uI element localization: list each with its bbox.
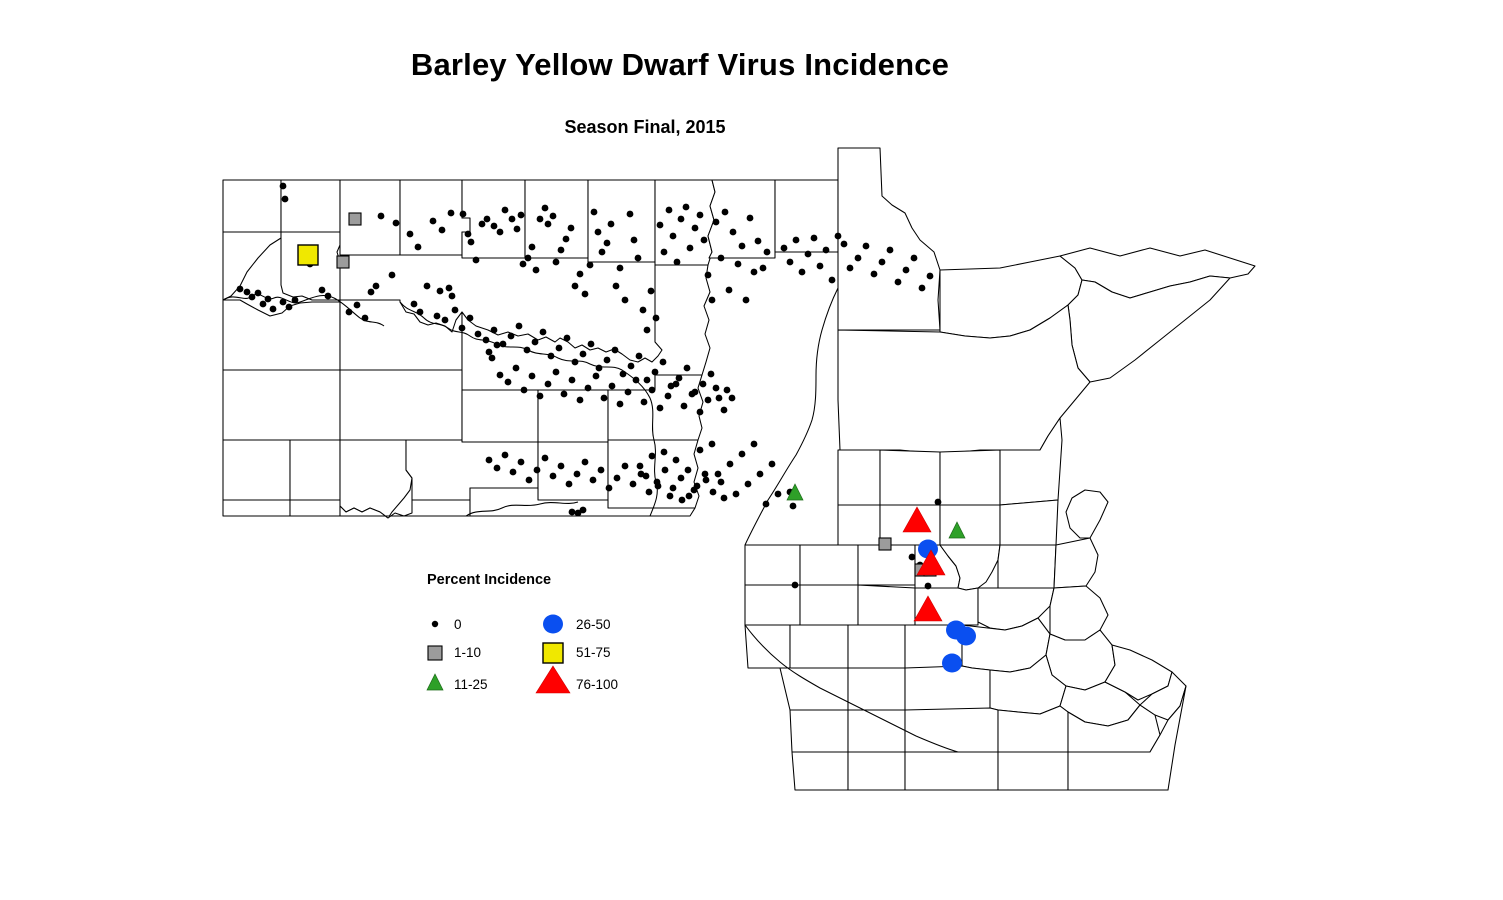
- data-point-zero: [542, 205, 549, 212]
- data-point-zero: [529, 373, 536, 380]
- legend-label-76-100: 76-100: [576, 677, 618, 692]
- data-point-zero: [286, 304, 293, 311]
- data-point-1-10: [337, 256, 349, 268]
- data-point-zero: [919, 285, 926, 292]
- legend-dot-icon: [432, 621, 438, 627]
- data-point-zero: [553, 369, 560, 376]
- data-point-zero: [644, 327, 651, 334]
- data-point-zero: [903, 267, 910, 274]
- legend-label-11-25: 11-25: [454, 677, 488, 692]
- data-point-zero: [577, 271, 584, 278]
- data-point-zero: [760, 265, 767, 272]
- data-point-zero: [580, 351, 587, 358]
- data-point-zero: [681, 403, 688, 410]
- data-point-zero: [743, 297, 750, 304]
- data-point-zero: [775, 491, 782, 498]
- data-point-zero: [617, 265, 624, 272]
- data-point-zero: [628, 363, 635, 370]
- data-point-zero: [491, 223, 498, 230]
- data-point-zero: [636, 353, 643, 360]
- data-point-zero: [799, 269, 806, 276]
- data-point-zero: [730, 229, 737, 236]
- data-point-zero: [709, 297, 716, 304]
- data-point-zero: [265, 296, 272, 303]
- data-point-zero: [726, 287, 733, 294]
- data-point-zero: [701, 237, 708, 244]
- legend-blue-circle-icon: [543, 615, 563, 634]
- data-point-zero: [622, 297, 629, 304]
- data-point-zero: [622, 463, 629, 470]
- data-point-zero: [468, 239, 475, 246]
- data-point-zero: [524, 347, 531, 354]
- data-point-zero: [411, 301, 418, 308]
- data-point-zero: [282, 196, 289, 203]
- data-point-zero: [716, 395, 723, 402]
- data-point-zero: [640, 307, 647, 314]
- data-point-zero: [793, 237, 800, 244]
- data-point-zero: [442, 317, 449, 324]
- data-point-zero: [678, 475, 685, 482]
- data-point-zero: [660, 359, 667, 366]
- data-point-zero: [491, 327, 498, 334]
- data-point-zero: [817, 263, 824, 270]
- data-point-zero: [346, 309, 353, 316]
- data-point-zero: [718, 255, 725, 262]
- data-point-zero: [705, 272, 712, 279]
- data-point-zero: [518, 459, 525, 466]
- data-point-zero: [424, 283, 431, 290]
- data-point-zero: [572, 283, 579, 290]
- data-point-zero: [614, 475, 621, 482]
- data-point-zero: [751, 441, 758, 448]
- data-point-zero: [887, 247, 894, 254]
- data-point-zero: [713, 385, 720, 392]
- data-point-zero: [502, 452, 509, 459]
- data-point-zero: [718, 479, 725, 486]
- data-point-zero: [735, 261, 742, 268]
- data-point-zero: [599, 249, 606, 256]
- data-point-zero: [494, 465, 501, 472]
- data-point-zero: [641, 399, 648, 406]
- data-point-zero: [280, 299, 287, 306]
- data-point-zero: [697, 212, 704, 219]
- data-point-zero: [661, 249, 668, 256]
- data-point-zero: [460, 211, 467, 218]
- data-point-zero: [473, 257, 480, 264]
- data-point-zero: [811, 235, 818, 242]
- data-point-zero: [319, 287, 326, 294]
- data-point-zero: [582, 291, 589, 298]
- data-point-zero: [871, 271, 878, 278]
- data-point-zero: [687, 245, 694, 252]
- data-point-zero: [653, 315, 660, 322]
- north-dakota-counties: [223, 180, 838, 518]
- data-point-zero: [505, 379, 512, 386]
- legend-label-51-75: 51-75: [576, 645, 611, 660]
- data-point-zero: [702, 471, 709, 478]
- data-point-51-75: [298, 245, 318, 265]
- data-point-zero: [325, 293, 332, 300]
- data-point-zero: [514, 226, 521, 233]
- legend-red-triangle-icon: [536, 666, 570, 693]
- data-point-zero: [655, 483, 662, 490]
- data-point-zero: [739, 243, 746, 250]
- data-point-zero: [751, 269, 758, 276]
- data-point-zero: [508, 333, 515, 340]
- data-point-zero: [588, 341, 595, 348]
- data-point-zero: [674, 259, 681, 266]
- legend-green-triangle-icon: [427, 674, 443, 690]
- data-point-zero: [763, 501, 770, 508]
- data-point-zero: [685, 467, 692, 474]
- data-point-zero: [697, 447, 704, 454]
- data-point-zero: [635, 255, 642, 262]
- data-point-zero: [747, 215, 754, 222]
- data-point-zero: [679, 497, 686, 504]
- data-point-zero: [604, 357, 611, 364]
- data-point-zero: [516, 323, 523, 330]
- legend-label-0: 0: [454, 617, 462, 632]
- data-point-zero: [666, 207, 673, 214]
- data-point-zero: [646, 489, 653, 496]
- data-point-zero: [537, 393, 544, 400]
- data-point-zero: [520, 261, 527, 268]
- data-point-zero: [585, 385, 592, 392]
- data-point-zero: [542, 455, 549, 462]
- data-point-zero: [572, 359, 579, 366]
- data-point-zero: [389, 272, 396, 279]
- data-point-zero: [792, 582, 799, 589]
- data-point-zero: [721, 407, 728, 414]
- data-point-zero: [705, 397, 712, 404]
- data-point-zero: [847, 265, 854, 272]
- legend-label-1-10: 1-10: [454, 645, 481, 660]
- data-point-zero: [757, 471, 764, 478]
- data-point-zero: [362, 315, 369, 322]
- data-point-zero: [434, 313, 441, 320]
- data-point-zero: [676, 375, 683, 382]
- data-point-1-10: [349, 213, 361, 225]
- data-point-zero: [446, 285, 453, 292]
- data-point-zero: [601, 395, 608, 402]
- data-point-zero: [604, 240, 611, 247]
- data-point-zero: [739, 451, 746, 458]
- data-point-zero: [745, 481, 752, 488]
- data-point-zero: [494, 342, 501, 349]
- data-point-zero: [561, 391, 568, 398]
- data-point-zero: [643, 473, 650, 480]
- data-point-zero: [545, 381, 552, 388]
- data-point-zero: [532, 339, 539, 346]
- data-point-zero: [662, 467, 669, 474]
- data-point-zero: [649, 453, 656, 460]
- data-point-zero: [467, 315, 474, 322]
- legend-yellow-square-icon: [543, 643, 563, 663]
- data-point-zero: [729, 395, 736, 402]
- data-point-zero: [648, 288, 655, 295]
- data-point-zero: [407, 231, 414, 238]
- data-point-zero: [715, 471, 722, 478]
- data-point-zero: [649, 387, 656, 394]
- data-point-26-50: [956, 627, 976, 646]
- data-point-zero: [553, 259, 560, 266]
- data-point-zero: [591, 209, 598, 216]
- data-point-zero: [703, 477, 710, 484]
- data-point-zero: [787, 259, 794, 266]
- data-point-zero: [459, 325, 466, 332]
- data-point-zero: [483, 337, 490, 344]
- data-point-zero: [569, 509, 576, 516]
- data-point-zero: [829, 277, 836, 284]
- data-point-zero: [608, 221, 615, 228]
- data-point-zero: [769, 461, 776, 468]
- data-point-zero: [430, 218, 437, 225]
- data-point-zero: [657, 222, 664, 229]
- legend: Percent Incidence 0 1-10 11-25 26-50 51-…: [424, 572, 654, 702]
- data-point-zero: [631, 237, 638, 244]
- data-point-zero: [354, 302, 361, 309]
- data-point-zero: [452, 307, 459, 314]
- data-point-zero: [292, 297, 299, 304]
- data-point-zero: [781, 245, 788, 252]
- data-point-zero: [415, 244, 422, 251]
- data-point-zero: [722, 209, 729, 216]
- data-point-zero: [475, 331, 482, 338]
- data-point-zero: [841, 241, 848, 248]
- data-point-zero: [577, 397, 584, 404]
- data-point-zero: [697, 409, 704, 416]
- data-point-zero: [525, 255, 532, 262]
- data-point-zero: [465, 231, 472, 238]
- data-point-zero: [633, 377, 640, 384]
- data-point-zero: [510, 469, 517, 476]
- data-point-zero: [606, 485, 613, 492]
- data-point-zero: [927, 273, 934, 280]
- data-point-zero: [590, 477, 597, 484]
- data-point-zero: [448, 210, 455, 217]
- data-point-zero: [237, 286, 244, 293]
- data-point-1-10: [879, 538, 891, 550]
- data-point-zero: [568, 225, 575, 232]
- data-point-zero: [667, 493, 674, 500]
- data-point-zero: [260, 301, 267, 308]
- data-point-zero: [587, 262, 594, 269]
- legend-label-26-50: 26-50: [576, 617, 611, 632]
- data-point-zero: [558, 247, 565, 254]
- data-point-zero: [417, 309, 424, 316]
- data-point-zero: [486, 349, 493, 356]
- data-point-zero: [564, 335, 571, 342]
- data-point-zero: [612, 347, 619, 354]
- data-point-zero: [270, 306, 277, 313]
- data-point-zero: [684, 365, 691, 372]
- data-point-zero: [244, 289, 251, 296]
- data-point-zero: [733, 491, 740, 498]
- data-point-zero: [373, 283, 380, 290]
- data-point-zero: [755, 238, 762, 245]
- page-subtitle: Season Final, 2015: [0, 117, 1290, 138]
- data-point-zero: [255, 290, 262, 297]
- data-point-zero: [925, 583, 932, 590]
- data-point-zero: [713, 219, 720, 226]
- data-point-zero: [895, 279, 902, 286]
- data-point-zero: [709, 441, 716, 448]
- data-point-zero: [598, 467, 605, 474]
- data-point-zero: [617, 401, 624, 408]
- data-point-zero: [652, 369, 659, 376]
- data-point-zero: [569, 377, 576, 384]
- data-point-zero: [686, 493, 693, 500]
- data-point-zero: [644, 377, 651, 384]
- data-point-zero: [721, 495, 728, 502]
- data-point-zero: [627, 211, 634, 218]
- data-point-zero: [449, 293, 456, 300]
- data-point-zero: [673, 381, 680, 388]
- legend-title: Percent Incidence: [427, 572, 551, 588]
- data-point-zero: [484, 216, 491, 223]
- data-point-zero: [368, 289, 375, 296]
- data-point-zero: [509, 216, 516, 223]
- data-point-zero: [437, 288, 444, 295]
- data-point-zero: [683, 204, 690, 211]
- data-point-zero: [563, 236, 570, 243]
- data-point-zero: [670, 233, 677, 240]
- data-point-zero: [593, 373, 600, 380]
- data-point-zero: [574, 471, 581, 478]
- data-point-zero: [489, 355, 496, 362]
- data-point-zero: [566, 481, 573, 488]
- data-point-zero: [556, 345, 563, 352]
- data-point-zero: [526, 477, 533, 484]
- data-point-zero: [678, 216, 685, 223]
- legend-gray-square-icon: [428, 646, 442, 660]
- data-point-zero: [479, 221, 486, 228]
- data-point-zero: [692, 225, 699, 232]
- data-point-zero: [534, 467, 541, 474]
- data-point-zero: [393, 220, 400, 227]
- data-point-zero: [550, 213, 557, 220]
- data-point-zero: [911, 255, 918, 262]
- data-point-zero: [249, 294, 256, 301]
- data-point-zero: [613, 283, 620, 290]
- data-point-zero: [502, 207, 509, 214]
- data-point-zero: [727, 461, 734, 468]
- data-point-zero: [909, 554, 916, 561]
- data-point-zero: [540, 329, 547, 336]
- data-point-zero: [582, 459, 589, 466]
- data-point-zero: [764, 249, 771, 256]
- page-title: Barley Yellow Dwarf Virus Incidence: [0, 47, 1360, 83]
- data-point-zero: [673, 457, 680, 464]
- data-point-zero: [691, 487, 698, 494]
- data-point-zero: [835, 233, 842, 240]
- data-point-zero: [855, 255, 862, 262]
- data-point-zero: [863, 243, 870, 250]
- data-point-zero: [378, 213, 385, 220]
- data-point-zero: [630, 481, 637, 488]
- data-point-zero: [657, 405, 664, 412]
- data-point-zero: [439, 227, 446, 234]
- data-point-zero: [545, 221, 552, 228]
- data-point-zero: [280, 183, 287, 190]
- data-point-zero: [500, 341, 507, 348]
- data-point-zero: [497, 372, 504, 379]
- data-point-zero: [790, 503, 797, 510]
- data-point-zero: [518, 212, 525, 219]
- data-point-zero: [724, 387, 731, 394]
- data-point-zero: [625, 389, 632, 396]
- data-point-zero: [823, 247, 830, 254]
- data-point-zero: [486, 457, 493, 464]
- data-point-zero: [708, 371, 715, 378]
- data-point-zero: [558, 463, 565, 470]
- data-point-zero: [550, 473, 557, 480]
- data-point-zero: [805, 251, 812, 258]
- data-point-zero: [595, 229, 602, 236]
- data-point-zero: [637, 463, 644, 470]
- data-point-zero: [689, 391, 696, 398]
- data-point-zero: [620, 371, 627, 378]
- data-point-zero: [661, 449, 668, 456]
- data-point-zero: [529, 244, 536, 251]
- data-point-zero: [548, 353, 555, 360]
- data-point-zero: [513, 365, 520, 372]
- data-point-zero: [710, 489, 717, 496]
- data-point-zero: [533, 267, 540, 274]
- data-point-26-50: [942, 654, 962, 673]
- data-point-zero: [700, 381, 707, 388]
- data-point-zero: [497, 229, 504, 236]
- data-point-zero: [670, 485, 677, 492]
- data-point-zero: [879, 259, 886, 266]
- data-point-zero: [596, 365, 603, 372]
- data-point-zero: [580, 507, 587, 514]
- data-point-zero: [537, 216, 544, 223]
- data-point-zero: [665, 393, 672, 400]
- data-point-zero: [609, 383, 616, 390]
- data-point-zero: [935, 499, 942, 506]
- data-point-zero: [521, 387, 528, 394]
